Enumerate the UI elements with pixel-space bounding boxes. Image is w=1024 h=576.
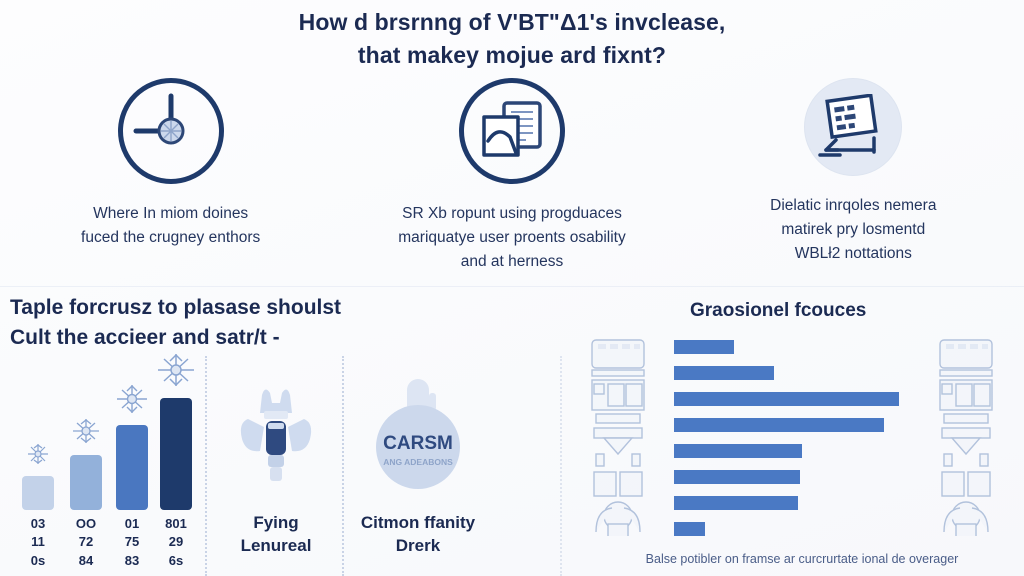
caption-line: mariquatye user proents osability (398, 226, 625, 250)
hbar-row (674, 366, 774, 380)
machine-panel-icon-right (930, 336, 1002, 541)
feature-column-1-caption: Where In miom doines fuced the crugney e… (81, 202, 260, 250)
bar-4-label-line-1: 801 (160, 515, 192, 533)
caption-line: WBLł2 nottations (770, 242, 936, 266)
right-chart-caption: Balse potibler on framse ar curcrurtate … (580, 552, 1024, 566)
snowflake-sparkle-icon (66, 416, 106, 451)
hbar-3 (674, 392, 899, 406)
tile-label-line-2: Lenureal (206, 535, 346, 558)
tile-dental-chair-label: Fying Lenureal (206, 512, 346, 558)
feature-column-1: Where In miom doines fuced the crugney e… (0, 78, 341, 274)
bar-group-2 (70, 455, 102, 510)
hbar-7 (674, 496, 798, 510)
bar-2-label-line-2: 72 (70, 533, 102, 551)
caption-line: and at herness (398, 250, 625, 274)
caption-line: fuced the crugney enthors (81, 226, 260, 250)
bar-4 (160, 398, 192, 510)
hbar-row (674, 392, 899, 406)
bar-3-labels: 01 75 83 (116, 515, 148, 570)
bar-1 (22, 476, 54, 510)
hbar-row (674, 444, 802, 458)
hbar-1 (674, 340, 734, 354)
bar-2 (70, 455, 102, 510)
feature-column-2: SR Xb ropunt using progduaces mariquatye… (341, 78, 682, 274)
divider-right-of-tiles (560, 356, 562, 576)
hbar-8 (674, 522, 705, 536)
bar-2-label-line-3: 84 (70, 552, 102, 570)
left-section-heading: Taple forcrusz to plasase shoulst Cult t… (10, 293, 341, 354)
hbar-row (674, 470, 800, 484)
hbar-row (674, 496, 798, 510)
bar-3-label-line-3: 83 (116, 552, 148, 570)
tile-label-line-1: Fying (206, 512, 346, 535)
caption-line: matirek pry losmentd (770, 218, 936, 242)
steering-wheel-icon (118, 78, 224, 184)
page-title: How d brsrnng of V'BT"Δ1's invclease, th… (0, 6, 1024, 71)
hbar-row (674, 418, 884, 432)
badge-subtitle: ANG ADEABONS (383, 457, 453, 467)
feature-column-3: Dielatic inrqoles nemera matirek pry los… (683, 78, 1024, 274)
bar-group-3 (116, 425, 148, 510)
snowflake-sparkle-icon (110, 382, 154, 421)
caption-line: SR Xb ropunt using progduaces (398, 202, 625, 226)
hbar-2 (674, 366, 774, 380)
hbar-4 (674, 418, 884, 432)
right-horizontal-bar-chart (674, 336, 906, 544)
bar-1-label-line-2: 11 (22, 533, 54, 551)
bar-2-label-line-1: OO (70, 515, 102, 533)
section-divider-horizontal (0, 286, 1024, 287)
dental-chair-icon (206, 372, 346, 500)
bar-group-4 (160, 398, 192, 510)
caption-line: Dielatic inrqoles nemera (770, 194, 936, 218)
bar-4-labels: 801 29 6s (160, 515, 192, 570)
bar-1-labels: 03 11 0s (22, 515, 54, 570)
tile-badge-card-label: Citmon ffanity Drerk (348, 512, 488, 558)
infographic-page: How d brsrnng of V'BT"Δ1's invclease, th… (0, 0, 1024, 576)
snowflake-sparkle-icon (21, 441, 55, 472)
bar-group-1 (22, 476, 54, 510)
bar-3-label-line-1: 01 (116, 515, 148, 533)
easel-board-icon (804, 78, 902, 176)
tile-dental-chair: Fying Lenureal (206, 372, 346, 558)
top-feature-columns: Where In miom doines fuced the crugney e… (0, 78, 1024, 274)
tile-badge-card: CARSM ANG ADEABONS Citmon ffanity Drerk (348, 372, 488, 558)
document-chart-icon (459, 78, 565, 184)
left-heading-line-2: Cult the accieer and satr/t - (10, 323, 341, 353)
bar-2-labels: OO 72 84 (70, 515, 102, 570)
right-section-heading: Graosionel fcouces (690, 300, 866, 322)
machine-panel-icon-left (582, 336, 654, 541)
bar-1-label-line-3: 0s (22, 552, 54, 570)
left-vertical-bar-chart: 03 11 0s OO 72 84 (8, 366, 203, 576)
tile-label-line-1: Citmon ffanity (348, 512, 488, 535)
feature-column-3-caption: Dielatic inrqoles nemera matirek pry los… (770, 194, 936, 266)
caption-line: Where In miom doines (81, 202, 260, 226)
page-title-line-2: that makey mojue ard fixnt? (0, 39, 1024, 72)
bar-3 (116, 425, 148, 510)
left-heading-line-1: Taple forcrusz to plasase shoulst (10, 293, 341, 323)
bar-3-label-line-2: 75 (116, 533, 148, 551)
hbar-row (674, 522, 705, 536)
tile-label-line-2: Drerk (348, 535, 488, 558)
bar-1-label-line-1: 03 (22, 515, 54, 533)
page-title-line-1: How d brsrnng of V'BT"Δ1's invclease, (299, 9, 726, 35)
snowflake-sparkle-icon (151, 351, 201, 394)
hbar-5 (674, 444, 802, 458)
bar-4-label-line-3: 6s (160, 552, 192, 570)
bar-4-label-line-2: 29 (160, 533, 192, 551)
badge-title: CARSM (383, 433, 453, 454)
hbar-row (674, 340, 734, 354)
feature-column-2-caption: SR Xb ropunt using progduaces mariquatye… (398, 202, 625, 274)
badge-card-icon: CARSM ANG ADEABONS (348, 372, 488, 500)
hbar-6 (674, 470, 800, 484)
